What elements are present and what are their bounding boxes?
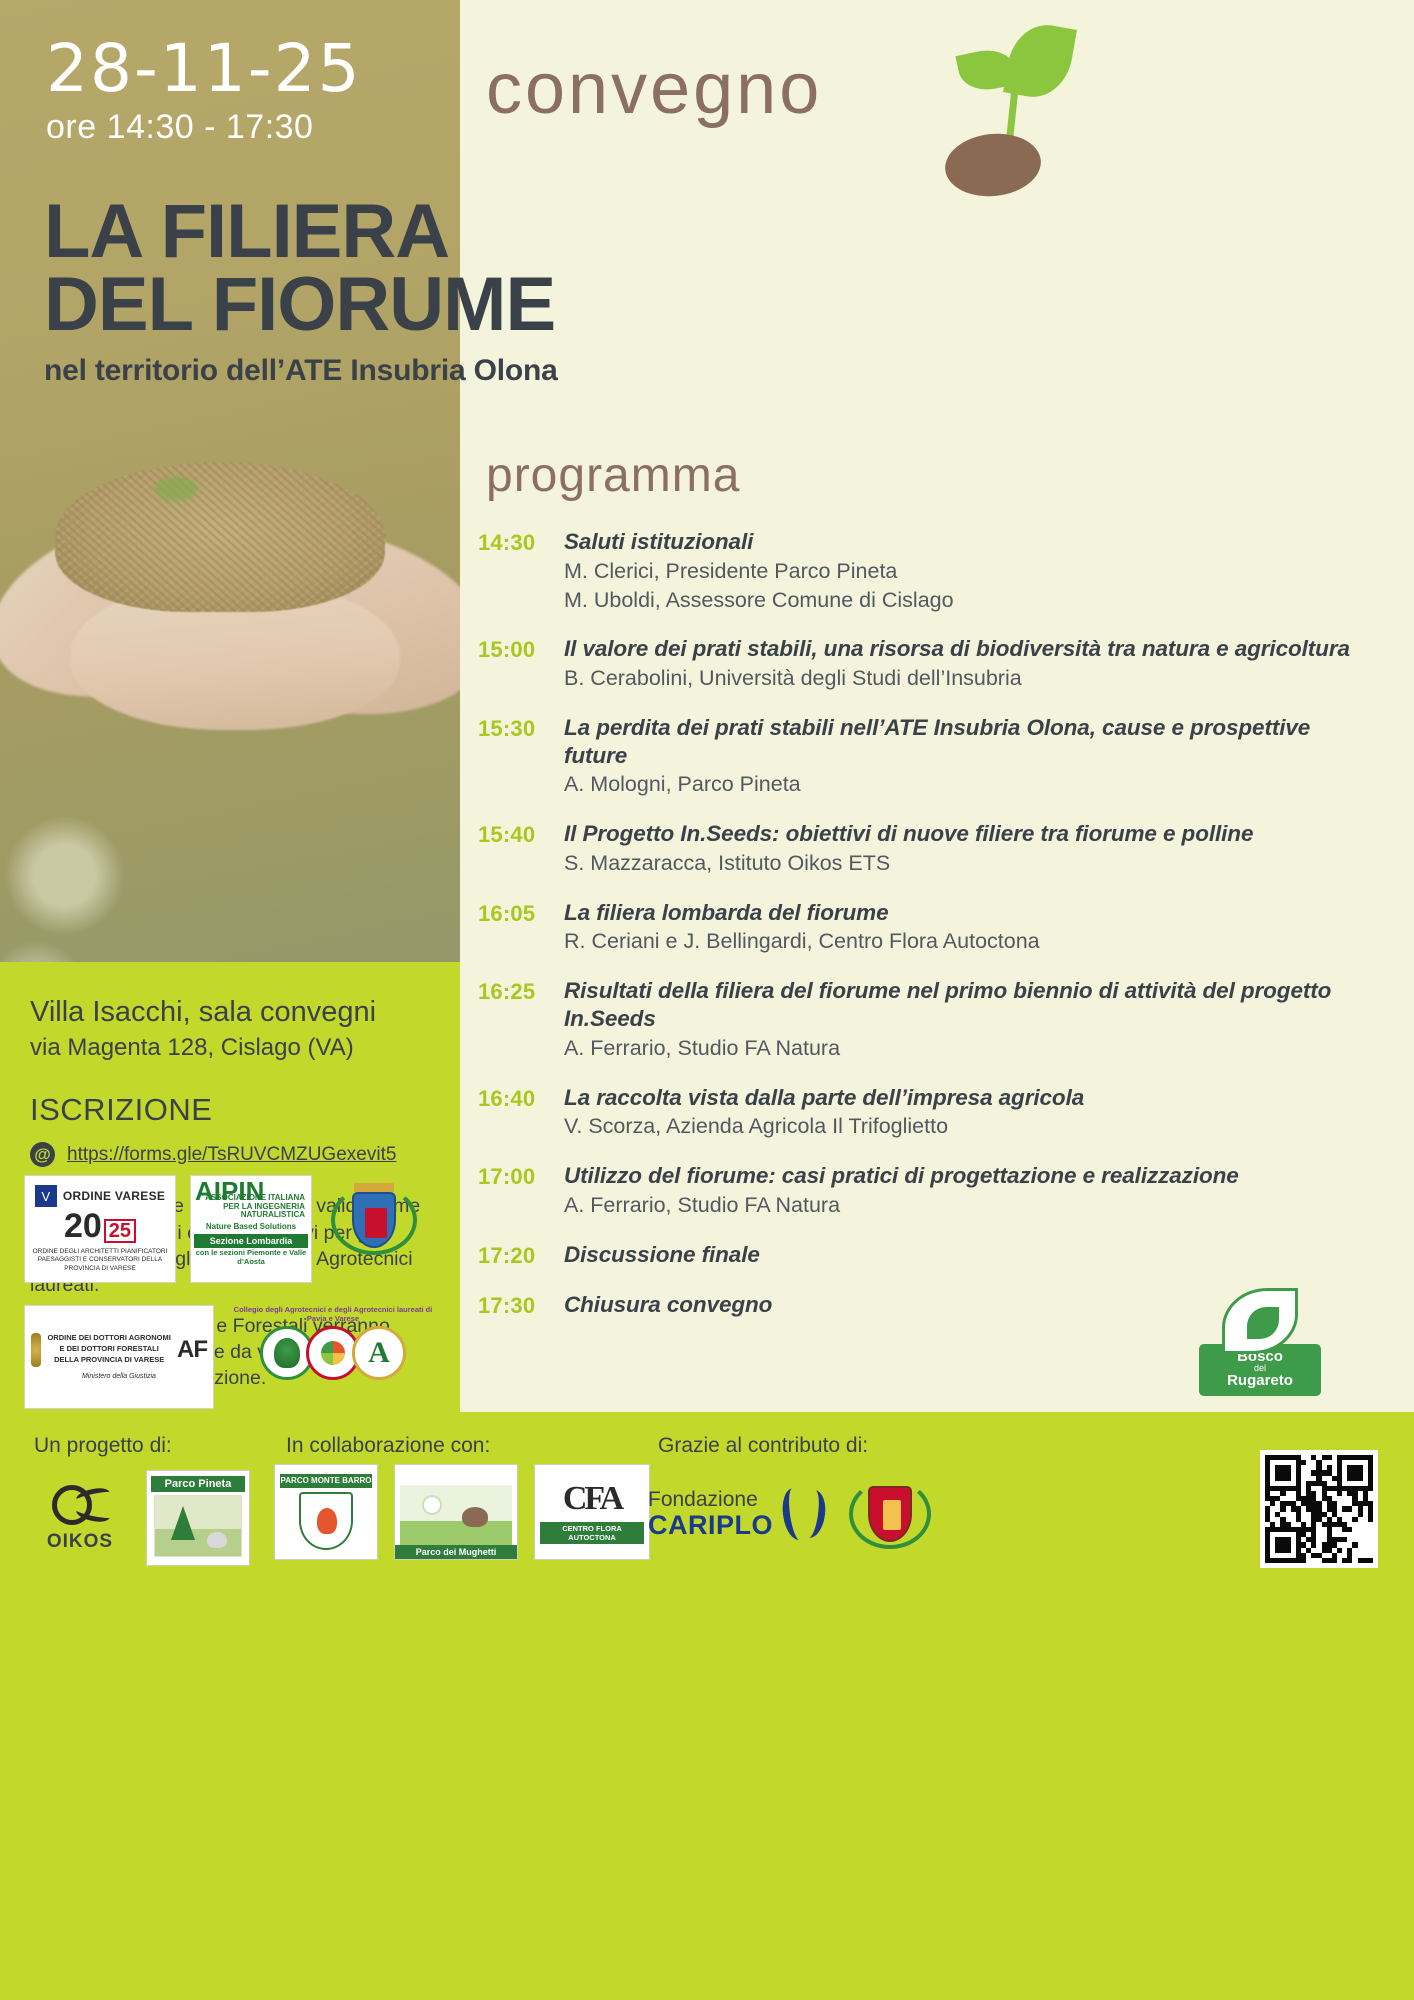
crest-wrap bbox=[326, 1175, 422, 1265]
programme-item-speaker: M. Uboldi, Assessore Comune di Cislago bbox=[564, 587, 1378, 614]
logo-oikos: OIKOS bbox=[30, 1473, 130, 1563]
programme-item-title: Il valore dei prati stabili, una risorsa… bbox=[564, 635, 1378, 663]
programme-item-body: Risultati della filiera del fiorume nel … bbox=[564, 977, 1378, 1061]
bosco-name: Rugareto bbox=[1199, 1373, 1321, 1389]
footer-label-project: Un progetto di: bbox=[34, 1434, 172, 1458]
shield-icon bbox=[868, 1486, 912, 1542]
venue-name: Villa Isacchi, sala convegni bbox=[30, 996, 430, 1029]
programme-item-title: Utilizzo del fiorume: casi pratici di pr… bbox=[564, 1162, 1378, 1190]
varese-year: 20 25 bbox=[64, 1209, 136, 1243]
programme-item-time: 17:20 bbox=[478, 1241, 564, 1269]
pineta-name: Parco Pineta bbox=[151, 1476, 245, 1492]
emblem-icon bbox=[31, 1333, 41, 1367]
agronomi-footer: Ministero della Giustizia bbox=[82, 1372, 156, 1381]
programme-item-speaker: V. Scorza, Azienda Agricola Il Trifoglie… bbox=[564, 1113, 1378, 1140]
programme-item-speaker: A. Ferrario, Studio FA Natura bbox=[564, 1035, 1378, 1062]
programme-item-title: Il Progetto In.Seeds: obiettivi di nuove… bbox=[564, 820, 1378, 848]
programme-item: 17:00Utilizzo del fiorume: casi pratici … bbox=[478, 1162, 1378, 1219]
registration-heading: ISCRIZIONE bbox=[30, 1092, 430, 1128]
programme-list: 14:30Saluti istituzionaliM. Clerici, Pre… bbox=[478, 528, 1378, 1341]
patron-logos-row-2: ORDINE DEI DOTTORI AGRONOMI E DEI DOTTOR… bbox=[24, 1305, 438, 1409]
venue-address: via Magenta 128, Cislago (VA) bbox=[30, 1034, 430, 1062]
event-time-range: ore 14:30 - 17:30 bbox=[46, 108, 362, 147]
logo-comune-crest bbox=[326, 1175, 422, 1283]
qr-code[interactable] bbox=[1260, 1450, 1378, 1568]
programme-item-body: Utilizzo del fiorume: casi pratici di pr… bbox=[564, 1162, 1378, 1219]
programme-item-body: Il valore dei prati stabili, una risorsa… bbox=[564, 635, 1378, 692]
varese-year-main: 20 bbox=[64, 1209, 102, 1243]
cariplo-line-2: CARIPLO bbox=[648, 1511, 773, 1539]
agronomi-lines: ORDINE DEI DOTTORI AGRONOMI E DEI DOTTOR… bbox=[47, 1333, 171, 1366]
pineta-illustration bbox=[154, 1495, 242, 1557]
sprout-icon bbox=[935, 24, 1085, 194]
event-date-block: 28-11-25 ore 14:30 - 17:30 bbox=[46, 36, 362, 147]
title-subtitle: nel territorio dell’ATE Insubria Olona bbox=[44, 354, 558, 388]
sprout-seed bbox=[942, 129, 1044, 201]
logo-parco-dei-mughetti: Parco dei Mughetti bbox=[394, 1464, 518, 1560]
varese-top: V ORDINE VARESE bbox=[35, 1185, 165, 1207]
programme-item-speaker: A. Ferrario, Studio FA Natura bbox=[564, 1192, 1378, 1219]
footer-label-collaboration: In collaborazione con: bbox=[286, 1434, 490, 1458]
programme-item-speaker: A. Mologni, Parco Pineta bbox=[564, 771, 1378, 798]
programme-item: 16:40La raccolta vista dalla parte dell’… bbox=[478, 1084, 1378, 1141]
programme-item-time: 16:25 bbox=[478, 977, 564, 1061]
programme-item-body: La perdita dei prati stabili nell’ATE In… bbox=[564, 714, 1378, 798]
shield-icon bbox=[299, 1492, 353, 1550]
cariplo-mark-icon bbox=[783, 1488, 829, 1540]
programme-item: 14:30Saluti istituzionaliM. Clerici, Pre… bbox=[478, 528, 1378, 613]
programme-item: 15:00Il valore dei prati stabili, una ri… bbox=[478, 635, 1378, 692]
footer-logos-project: OIKOS Parco Pineta bbox=[30, 1470, 250, 1566]
programme-item-time: 16:40 bbox=[478, 1084, 564, 1141]
footer-label-contribution: Grazie al contributo di: bbox=[658, 1434, 868, 1458]
cfa-monogram: CFA bbox=[563, 1480, 621, 1518]
varese-badge-icon: V bbox=[35, 1185, 57, 1207]
footer: Un progetto di: In collaborazione con: G… bbox=[0, 1412, 1414, 2000]
programme-item-time: 14:30 bbox=[478, 528, 564, 613]
tree-shape bbox=[274, 1338, 300, 1368]
letter-a-icon: A bbox=[352, 1326, 406, 1380]
logo-ordine-architetti-varese: V ORDINE VARESE 20 25 ORDINE DEGLI ARCHI… bbox=[24, 1175, 176, 1283]
cariplo-line-1: Fondazione bbox=[648, 1489, 773, 1511]
varese-label: ORDINE VARESE bbox=[63, 1189, 165, 1203]
registration-link-row[interactable]: @ https://forms.gle/TsRUVCMZUGexevit5 bbox=[30, 1142, 430, 1167]
programme-item: 16:05La filiera lombarda del fiorumeR. C… bbox=[478, 899, 1378, 956]
at-icon: @ bbox=[30, 1142, 55, 1167]
programme-item: 15:40Il Progetto In.Seeds: obiettivi di … bbox=[478, 820, 1378, 877]
programme-item-body: La filiera lombarda del fiorumeR. Cerian… bbox=[564, 899, 1378, 956]
logo-comune-crest-footer bbox=[845, 1466, 935, 1562]
programme-item-speaker: B. Cerabolini, Università degli Studi de… bbox=[564, 665, 1378, 692]
footer-logos-contribution: Fondazione CARIPLO bbox=[648, 1466, 935, 1562]
title-line-2: DEL FIORUME bbox=[44, 269, 558, 342]
programme-item-title: Discussione finale bbox=[564, 1241, 1378, 1269]
logo-fondazione-cariplo: Fondazione CARIPLO bbox=[648, 1488, 829, 1540]
shield-icon bbox=[352, 1192, 396, 1248]
programme-item-speaker: R. Ceriani e J. Bellingardi, Centro Flor… bbox=[564, 928, 1378, 955]
cariplo-text: Fondazione CARIPLO bbox=[648, 1489, 773, 1539]
patron-logos-row-1: V ORDINE VARESE 20 25 ORDINE DEGLI ARCHI… bbox=[24, 1175, 422, 1283]
programme-item-body: Il Progetto In.Seeds: obiettivi di nuove… bbox=[564, 820, 1378, 877]
programme-item-title: La raccolta vista dalla parte dell’impre… bbox=[564, 1084, 1378, 1112]
poster: 28-11-25 ore 14:30 - 17:30 convegno LA F… bbox=[0, 0, 1414, 2000]
logo-aipin: AIPIN ASSOCIAZIONE ITALIANA PER LA INGEG… bbox=[190, 1175, 312, 1283]
aipin-tagline: Nature Based Solutions bbox=[206, 1222, 296, 1231]
logo-centro-flora-autoctona: CFA CENTRO FLORA AUTOCTONA bbox=[534, 1464, 650, 1560]
logo-ordine-agronomi-varese: ORDINE DEI DOTTORI AGRONOMI E DEI DOTTOR… bbox=[24, 1305, 214, 1409]
flower-shape bbox=[321, 1341, 345, 1365]
programme-item-body: Discussione finale bbox=[564, 1241, 1378, 1269]
footer-logos-collaboration: PARCO MONTE BARRO Parco dei Mughetti CFA… bbox=[274, 1464, 650, 1560]
programme-item-time: 16:05 bbox=[478, 899, 564, 956]
aipin-regions: con le sezioni Piemonte e Valle d’Aosta bbox=[194, 1248, 308, 1266]
mughetti-name: Parco dei Mughetti bbox=[395, 1545, 517, 1559]
mughetti-illustration bbox=[400, 1485, 512, 1545]
aipin-section: Sezione Lombardia bbox=[194, 1234, 308, 1248]
qr-cell bbox=[1368, 1558, 1373, 1563]
event-date: 28-11-25 bbox=[46, 36, 362, 102]
programme-item-title: Saluti istituzionali bbox=[564, 528, 1378, 556]
collegio-icons: A bbox=[228, 1326, 438, 1380]
varese-year-accent: 25 bbox=[104, 1219, 136, 1243]
registration-link[interactable]: https://forms.gle/TsRUVCMZUGexevit5 bbox=[67, 1144, 396, 1166]
monte-barro-name: PARCO MONTE BARRO bbox=[280, 1474, 372, 1487]
programme-item-title: Risultati della filiera del fiorume nel … bbox=[564, 977, 1378, 1032]
programme-item: 16:25Risultati della filiera del fiorume… bbox=[478, 977, 1378, 1061]
aipin-initials: AIPIN bbox=[195, 1180, 264, 1203]
cfa-name: CENTRO FLORA AUTOCTONA bbox=[540, 1522, 644, 1544]
programme-item-speaker: M. Clerici, Presidente Parco Pineta bbox=[564, 558, 1378, 585]
logo-collegio-agrotecnici: Collegio degli Agrotecnici e degli Agrot… bbox=[228, 1305, 438, 1409]
title-line-1: LA FILIERA bbox=[44, 196, 558, 269]
programme-item: 15:30La perdita dei prati stabili nell’A… bbox=[478, 714, 1378, 798]
programme-item-time: 15:40 bbox=[478, 820, 564, 877]
kicker-convegno: convegno bbox=[486, 48, 822, 130]
logo-bosco-rugareto: Bosco del Rugareto bbox=[1192, 1288, 1328, 1396]
programme-item-time: 17:30 bbox=[478, 1291, 564, 1319]
page-title: LA FILIERA DEL FIORUME nel territorio de… bbox=[44, 196, 558, 388]
programme-item-time: 15:00 bbox=[478, 635, 564, 692]
programme-item-title: La filiera lombarda del fiorume bbox=[564, 899, 1378, 927]
programme-item-time: 15:30 bbox=[478, 714, 564, 798]
programme-item-body: Saluti istituzionaliM. Clerici, Presiden… bbox=[564, 528, 1378, 613]
collegio-heading: Collegio degli Agrotecnici e degli Agrot… bbox=[228, 1305, 438, 1324]
logo-parco-monte-barro: PARCO MONTE BARRO bbox=[274, 1464, 378, 1560]
agronomi-inner: ORDINE DEI DOTTORI AGRONOMI E DEI DOTTOR… bbox=[25, 1333, 213, 1367]
oikos-mark-icon bbox=[48, 1483, 112, 1527]
oikos-wordmark: OIKOS bbox=[47, 1531, 113, 1553]
programme-item-time: 17:00 bbox=[478, 1162, 564, 1219]
letter-a: A bbox=[368, 1336, 390, 1370]
qr-grid bbox=[1265, 1455, 1373, 1563]
logo-parco-pineta: Parco Pineta bbox=[146, 1470, 250, 1566]
programme-item: 17:20Discussione finale bbox=[478, 1241, 1378, 1269]
agronomi-mark: AF bbox=[177, 1334, 207, 1366]
programme-heading: programma bbox=[486, 448, 740, 503]
programme-item-title: La perdita dei prati stabili nell’ATE In… bbox=[564, 714, 1378, 769]
programme-item-body: La raccolta vista dalla parte dell’impre… bbox=[564, 1084, 1378, 1141]
programme-item-speaker: S. Mazzaracca, Istituto Oikos ETS bbox=[564, 850, 1378, 877]
cariplo-arc-2 bbox=[796, 1488, 828, 1539]
varese-footer: ORDINE DEGLI ARCHITETTI PIANIFICATORI PA… bbox=[25, 1248, 175, 1272]
